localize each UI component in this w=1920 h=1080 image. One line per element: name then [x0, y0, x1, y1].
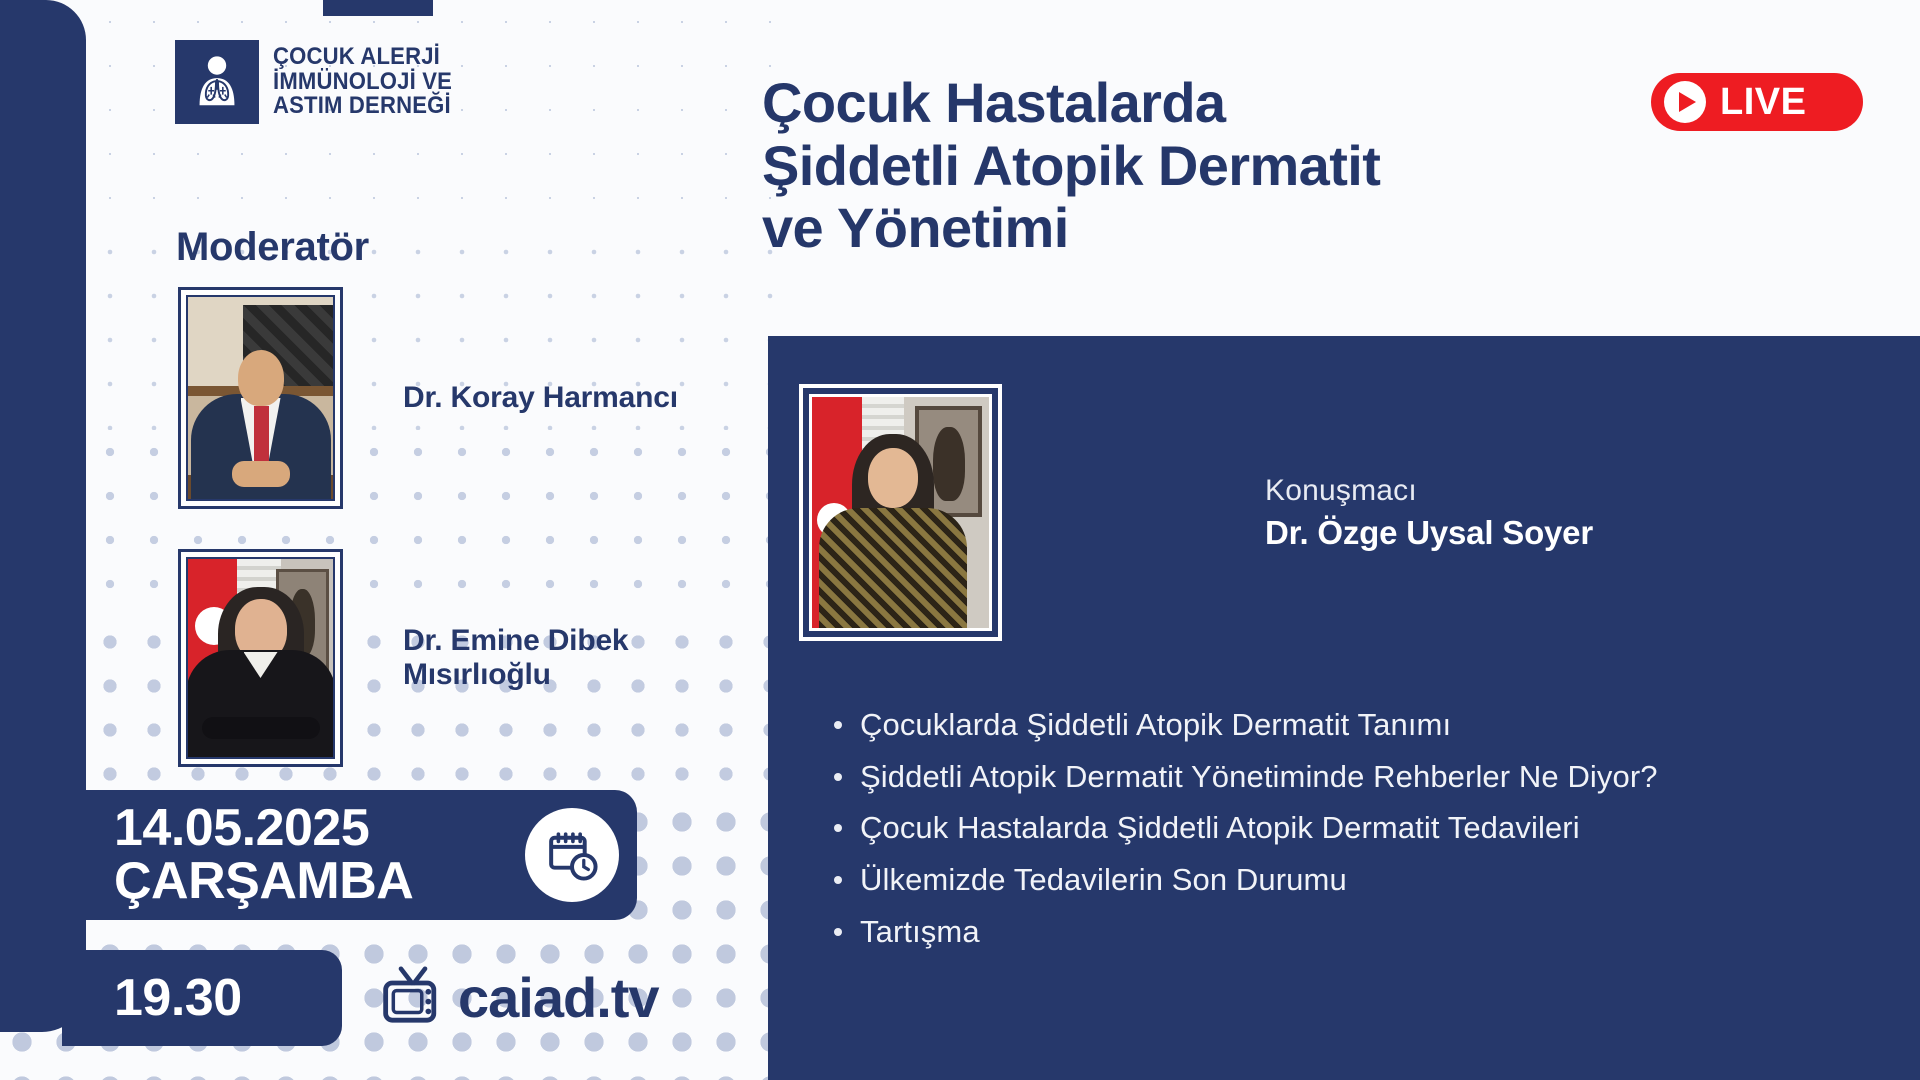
logo-line-3: ASTIM DERNEĞİ	[273, 94, 452, 118]
channel-block[interactable]: caiad.tv	[378, 960, 659, 1035]
moderator-photo-frame-2	[178, 549, 343, 767]
headline-line-2: Şiddetli Atopik Dermatit	[762, 135, 1380, 198]
logo-wordmark: ÇOCUK ALERJİ İMMÜNOLOJİ VE ASTIM DERNEĞİ	[273, 45, 452, 118]
television-icon	[378, 960, 448, 1035]
moderator-name-1: Dr. Koray Harmancı	[403, 381, 678, 415]
moderator-entry-1: Dr. Koray Harmancı	[178, 287, 678, 509]
list-item: Çocuk Hastalarda Şiddetli Atopik Dermati…	[826, 808, 1866, 848]
page-title: Çocuk Hastalarda Şiddetli Atopik Dermati…	[762, 72, 1380, 260]
list-item: Şiddetli Atopik Dermatit Yönetiminde Reh…	[826, 757, 1866, 797]
moderator-photo-frame-1	[178, 287, 343, 509]
live-badge[interactable]: LIVE	[1651, 73, 1863, 131]
moderator-entry-2: Dr. Emine Dibek Mısırlıoğlu	[178, 549, 733, 767]
live-badge-label: LIVE	[1720, 81, 1806, 124]
speaker-role: Konuşmacı	[1265, 474, 1593, 508]
organization-logo: ÇOCUK ALERJİ İMMÜNOLOJİ VE ASTIM DERNEĞİ	[175, 40, 468, 124]
top-accent-tab	[323, 0, 433, 16]
list-item: Çocuklarda Şiddetli Atopik Dermatit Tanı…	[826, 705, 1866, 745]
moderator-name-2: Dr. Emine Dibek Mısırlıoğlu	[403, 624, 733, 692]
logo-line-2: İMMÜNOLOJİ VE	[273, 70, 452, 94]
avatar	[186, 295, 335, 501]
headline-line-3: ve Yönetimi	[762, 197, 1380, 260]
date-text: 14.05.2025 ÇARŞAMBA	[114, 802, 413, 908]
date-line-2: ÇARŞAMBA	[114, 855, 413, 908]
avatar	[809, 394, 992, 631]
channel-label: caiad.tv	[458, 965, 659, 1030]
topic-list: Çocuklarda Şiddetli Atopik Dermatit Tanı…	[826, 705, 1866, 963]
moderator-heading: Moderatör	[176, 225, 369, 270]
speaker-text: Konuşmacı Dr. Özge Uysal Soyer	[1265, 474, 1593, 552]
speaker-block: Konuşmacı Dr. Özge Uysal Soyer	[799, 384, 1593, 641]
list-item: Tartışma	[826, 912, 1866, 952]
calendar-clock-icon	[525, 808, 619, 902]
time-text: 19.30	[114, 968, 242, 1028]
time-badge: 19.30	[62, 950, 342, 1046]
list-item: Ülkemizde Tedavilerin Son Durumu	[826, 860, 1866, 900]
avatar	[186, 557, 335, 759]
date-badge: 14.05.2025 ÇARŞAMBA	[62, 790, 637, 920]
date-line-1: 14.05.2025	[114, 802, 413, 855]
headline-line-1: Çocuk Hastalarda	[762, 72, 1380, 135]
logo-line-1: ÇOCUK ALERJİ	[273, 45, 452, 69]
speaker-name: Dr. Özge Uysal Soyer	[1265, 514, 1593, 552]
play-icon	[1664, 81, 1706, 123]
speaker-photo-frame	[799, 384, 1002, 641]
lungs-person-icon	[175, 40, 259, 124]
